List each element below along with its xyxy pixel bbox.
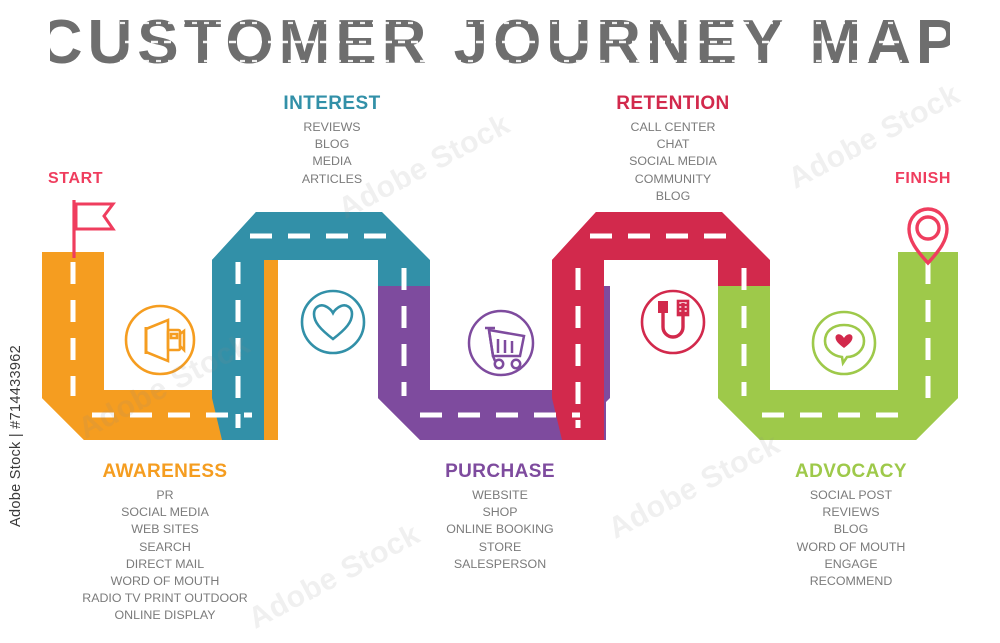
list-item: ONLINE BOOKING [412,521,588,538]
stage-block-purchase: PURCHASE WEBSITE SHOP ONLINE BOOKING STO… [412,462,588,573]
stage-title-retention: RETENTION [578,94,768,115]
start-label: START [48,170,103,188]
stage-list-awareness: PR SOCIAL MEDIA WEB SITES SEARCH DIRECT … [54,487,276,625]
list-item: SOCIAL POST [756,487,946,504]
list-item: BLOG [232,136,432,153]
stage-list-interest: REVIEWS BLOG MEDIA ARTICLES [232,119,432,188]
list-item: STORE [412,539,588,556]
list-item: BLOG [756,521,946,538]
customer-journey-map-infographic: CUSTOMER JOURNEY MAP [0,0,1000,643]
list-item: PR [54,487,276,504]
stage-block-advocacy: ADVOCACY SOCIAL POST REVIEWS BLOG WORD O… [756,462,946,590]
flag-icon [74,200,113,258]
list-item: DIRECT MAIL [54,556,276,573]
list-item: SOCIAL MEDIA [578,153,768,170]
stage-title-advocacy: ADVOCACY [756,462,946,483]
stage-title-interest: INTEREST [232,94,432,115]
megaphone-icon [126,306,194,374]
list-item: RADIO TV PRINT OUTDOOR [54,590,276,607]
magnet-icon [642,291,704,353]
stock-watermark: Adobe Stock | #714433962 [8,316,24,556]
speech-bubble-heart-icon [813,312,875,374]
list-item: SEARCH [54,539,276,556]
list-item: COMMUNITY [578,171,768,188]
stage-title-purchase: PURCHASE [412,462,588,483]
stage-block-retention: RETENTION CALL CENTER CHAT SOCIAL MEDIA … [578,94,768,205]
stage-block-interest: INTEREST REVIEWS BLOG MEDIA ARTICLES [232,94,432,188]
heart-icon [302,291,364,353]
finish-label: FINISH [895,170,951,188]
list-item: SALESPERSON [412,556,588,573]
shopping-cart-icon [469,311,533,375]
list-item: BLOG [578,188,768,205]
stage-list-purchase: WEBSITE SHOP ONLINE BOOKING STORE SALESP… [412,487,588,573]
list-item: SHOP [412,504,588,521]
list-item: REVIEWS [756,504,946,521]
stage-title-awareness: AWARENESS [54,462,276,483]
list-item: MEDIA [232,153,432,170]
list-item: WORD OF MOUTH [54,573,276,590]
stage-list-retention: CALL CENTER CHAT SOCIAL MEDIA COMMUNITY … [578,119,768,205]
list-item: ARTICLES [232,171,432,188]
list-item: ONLINE DISPLAY [54,607,276,624]
list-item: WEBSITE [412,487,588,504]
list-item: CALL CENTER [578,119,768,136]
stage-block-awareness: AWARENESS PR SOCIAL MEDIA WEB SITES SEAR… [54,462,276,625]
list-item: SOCIAL MEDIA [54,504,276,521]
list-item: RECOMMEND [756,573,946,590]
list-item: CHAT [578,136,768,153]
list-item: REVIEWS [232,119,432,136]
list-item: WEB SITES [54,521,276,538]
stage-list-advocacy: SOCIAL POST REVIEWS BLOG WORD OF MOUTH E… [756,487,946,590]
list-item: ENGAGE [756,556,946,573]
list-item: WORD OF MOUTH [756,539,946,556]
